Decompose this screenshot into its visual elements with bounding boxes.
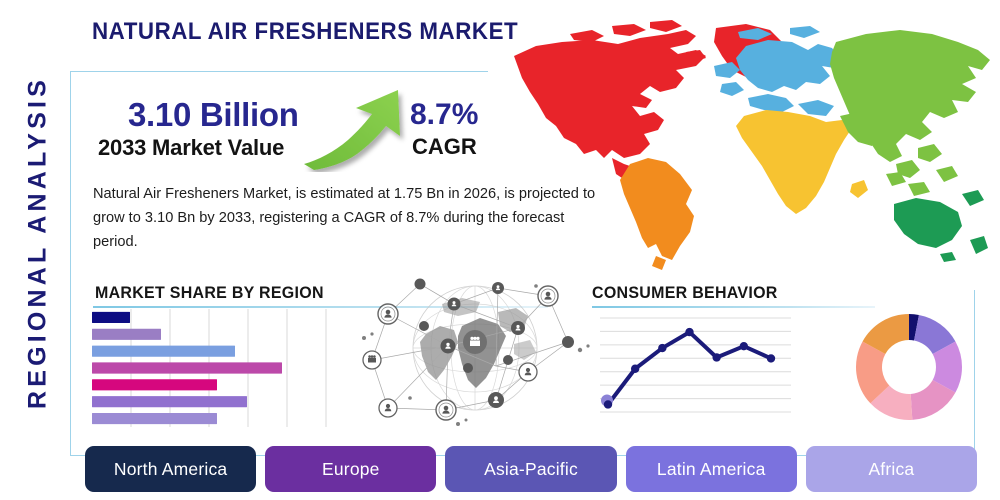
page-title: NATURAL AIR FRESHENERS MARKET <box>92 18 518 46</box>
line-chart-point <box>767 354 775 362</box>
consumer-behavior-line-chart <box>598 308 803 426</box>
line-chart-point <box>685 328 693 336</box>
region-button-north-america[interactable]: North America <box>85 446 256 492</box>
bar-chart-bar <box>92 312 130 323</box>
bar-chart-bar <box>92 379 217 390</box>
side-label-regional-analysis: REGIONAL ANALYSIS <box>24 33 53 453</box>
bar-chart-bar <box>92 396 247 407</box>
region-button-europe[interactable]: Europe <box>265 446 436 492</box>
bar-chart-bar <box>92 413 217 424</box>
section-title-consumer-behavior: CONSUMER BEHAVIOR <box>592 283 778 303</box>
line-chart-point <box>604 400 612 408</box>
consumer-segment-donut-chart <box>850 308 968 426</box>
section-title-market-share: MARKET SHARE BY REGION <box>95 283 324 303</box>
kpi-market-value: 3.10 Billion <box>128 96 299 134</box>
region-button-latin-america[interactable]: Latin America <box>626 446 797 492</box>
region-button-africa[interactable]: Africa <box>806 446 977 492</box>
line-chart-point <box>740 342 748 350</box>
infographic-root: REGIONAL ANALYSIS NATURAL AIR FRESHENERS… <box>0 0 1000 500</box>
network-globe-icon <box>358 268 592 430</box>
region-button-asia-pacific[interactable]: Asia-Pacific <box>445 446 616 492</box>
line-chart-point <box>712 353 720 361</box>
bar-chart-bar <box>92 329 161 340</box>
kpi-market-value-caption: 2033 Market Value <box>98 135 284 161</box>
kpi-cagr-caption: CAGR <box>412 134 477 160</box>
region-button-bar: North AmericaEuropeAsia-PacificLatin Ame… <box>85 446 977 492</box>
market-description: Natural Air Fresheners Market, is estima… <box>93 182 598 254</box>
line-chart-point <box>631 365 639 373</box>
bar-chart-bar <box>92 346 235 357</box>
bar-chart-bar <box>92 362 282 373</box>
line-chart-point <box>658 344 666 352</box>
kpi-cagr-value: 8.7% <box>410 98 478 132</box>
market-share-bar-chart <box>92 309 360 427</box>
growth-arrow-icon <box>300 86 408 172</box>
